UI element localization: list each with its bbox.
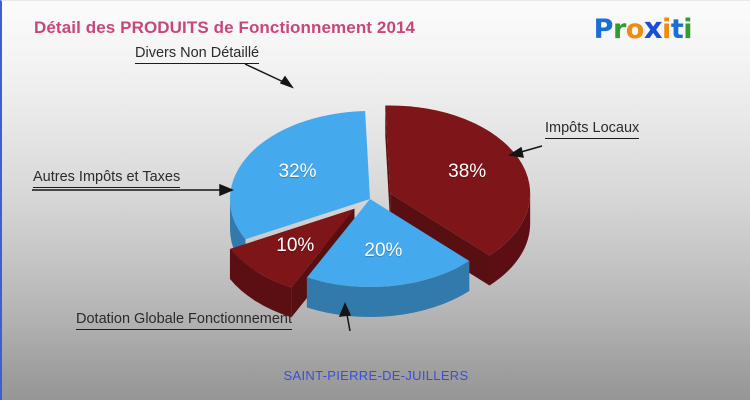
- pie-side-walls: [230, 106, 530, 318]
- chart-canvas: Détail des PRODUITS de Fonctionnement 20…: [0, 0, 750, 400]
- slice-value-dotation: 32%: [279, 161, 317, 183]
- slice-label-dotation: Dotation Globale Fonctionnement: [76, 311, 292, 330]
- page-title: Détail des PRODUITS de Fonctionnement 20…: [34, 18, 415, 38]
- leader-line-dotation: [346, 309, 350, 331]
- leader-line-impots-locaux: [514, 146, 542, 154]
- leader-arrow-autres: [220, 185, 232, 195]
- logo-letter-p: P: [594, 14, 613, 45]
- leader-arrow-impots-locaux: [510, 148, 523, 157]
- logo-letter-o: o: [626, 14, 644, 45]
- footer-town-name: SAINT-PIERRE-DE-JUILLERS: [2, 368, 750, 383]
- slice-outer-wall-dotation-globale-fonctionnement: [230, 199, 245, 269]
- logo-letter-i1: i: [662, 14, 671, 45]
- leader-line-divers: [245, 64, 290, 85]
- slice-value-divers: 20%: [364, 240, 402, 262]
- logo-letter-r: r: [613, 14, 626, 45]
- logo-letter-x: x: [644, 11, 662, 45]
- slice-label-impots-locaux: Impôts Locaux: [545, 120, 639, 139]
- slice-outer-wall-divers-non-detaille: [307, 261, 469, 317]
- logo-letter-t: t: [671, 14, 683, 45]
- pie-chart: [2, 1, 750, 401]
- slice-value-impots-locaux: 38%: [448, 161, 486, 183]
- leader-arrow-dotation: [340, 304, 350, 316]
- slice-radial-wall-impots-locaux: [385, 106, 390, 224]
- slice-radial-wall-autres-impots-et-taxes: [291, 209, 354, 318]
- slice-value-autres: 10%: [276, 235, 314, 257]
- slice-outer-wall-impots-locaux: [489, 193, 530, 285]
- leader-arrow-divers: [281, 77, 292, 87]
- slice-label-divers: Divers Non Détaillé: [135, 45, 259, 64]
- slice-radial-wall-impots-locaux: [390, 193, 489, 285]
- logo-letter-i2: i: [683, 14, 692, 45]
- proxiti-logo[interactable]: Proxiti: [594, 11, 692, 45]
- leader-lines: [32, 64, 542, 331]
- slice-label-autres: Autres Impôts et Taxes: [33, 169, 180, 188]
- slice-outer-wall-autres-impots-et-taxes: [230, 249, 291, 317]
